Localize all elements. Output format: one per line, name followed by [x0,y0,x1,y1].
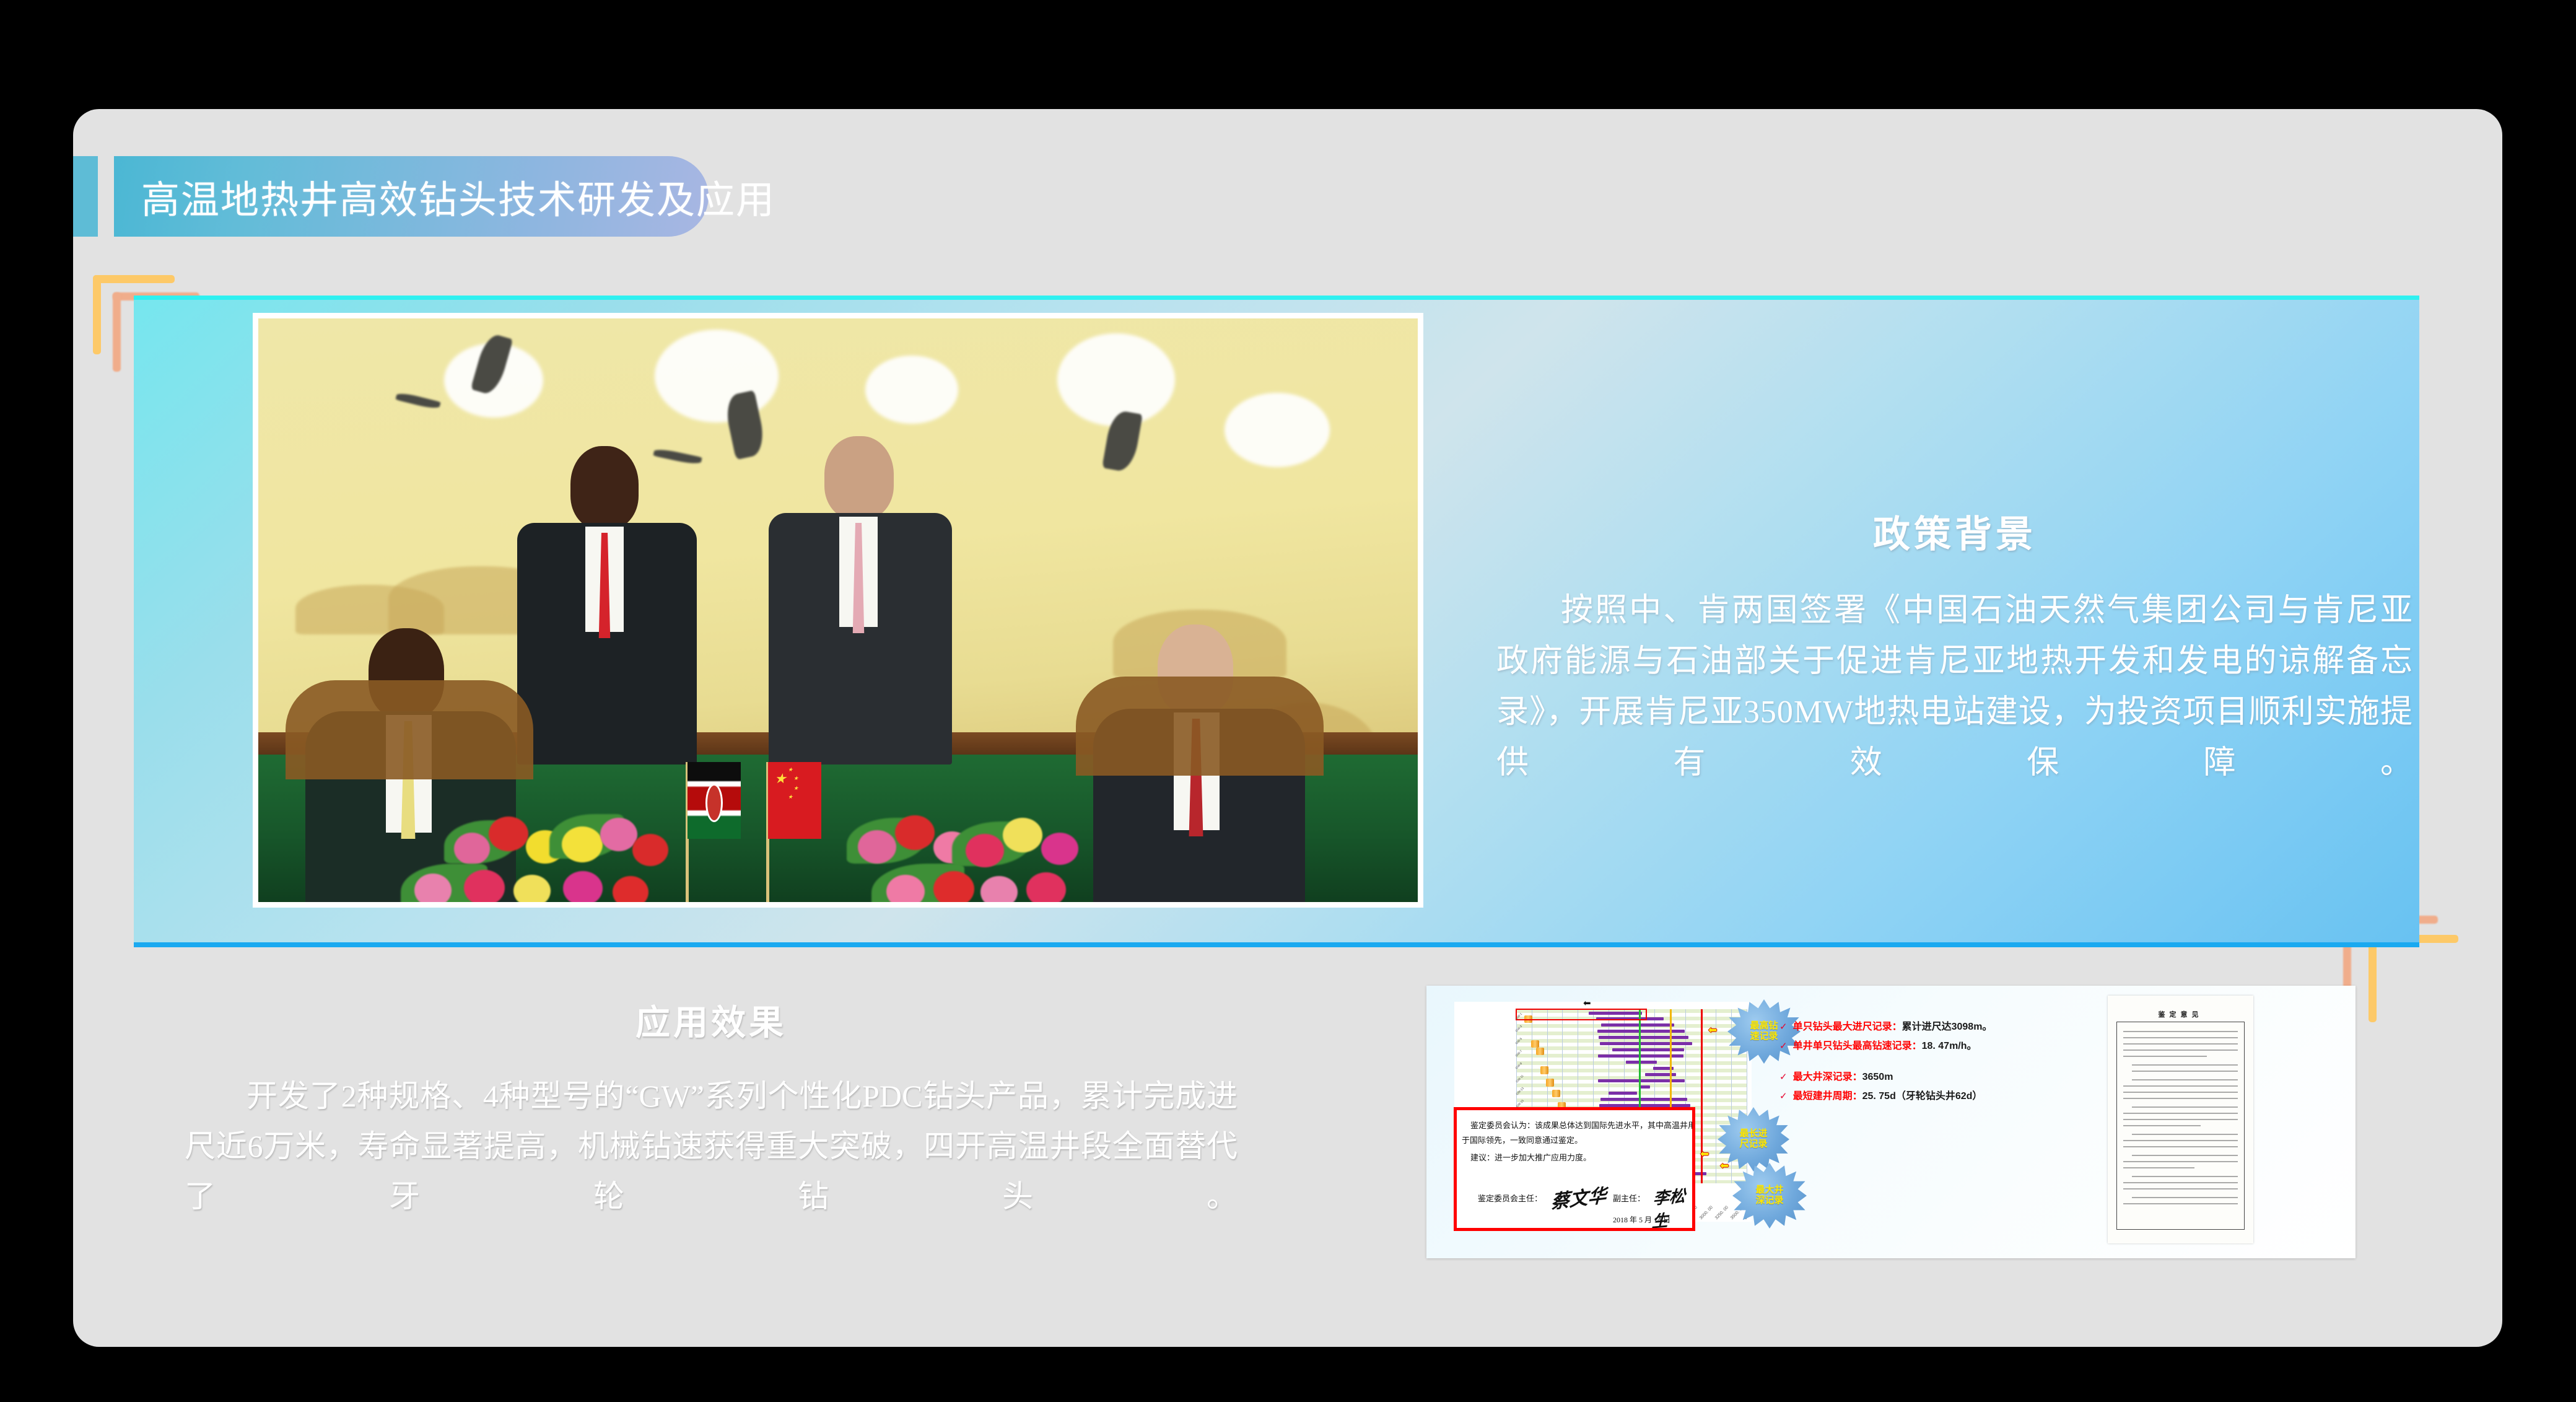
certificate-line-2: 于国际领先，一致同意通过鉴定。 [1462,1134,1583,1146]
record-item: ✓ 单井单只钻头最高钻速记录： 18. 47m/h。 [1779,1037,2114,1052]
china-flag: ★ ★ ★ ★ ★ [768,762,821,839]
title-pill: 高温地热井高效钻头技术研发及应用 [114,156,709,237]
slide-card: 高温地热井高效钻头技术研发及应用 [73,109,2502,1347]
check-icon: ✓ [1779,1090,1788,1102]
certificate-body [2116,1022,2245,1230]
policy-text-block: 政策背景 按照中、肯两国签署《中国石油天然气集团公司与肯尼亚政府能源与石油部关于… [1496,504,2413,789]
record-label: 最大井深记录： [1793,1068,1862,1083]
effect-text-block: 应用效果 开发了2种规格、4种型号的“GW”系列个性化PDC钻头产品，累计完成进… [185,995,1238,1222]
effect-heading: 应用效果 [185,995,1238,1045]
callout-arrow-speed: ⬅ [1708,1025,1717,1035]
record-label: 单井单只钻头最高钻速记录： [1793,1037,1922,1052]
page-title: 高温地热井高效钻头技术研发及应用 [114,169,775,224]
chair-label: 鉴定委员会主任： [1478,1192,1542,1204]
certificate-date: 2018 年 5 月 14 日 [1613,1214,1670,1225]
vice-label: 副主任： [1613,1192,1645,1204]
certificate-title: 鉴定意见 [2108,1009,2253,1019]
title-accent-bar [73,156,98,237]
record-label: 最短建井周期： [1793,1087,1862,1102]
policy-panel: ★ ★ ★ ★ ★ [134,296,2419,947]
callout-arrow-depth: ⬅ [1720,1160,1729,1171]
policy-body: 按照中、肯两国签署《中国石油天然气集团公司与肯尼亚政府能源与石油部关于促进肯尼亚… [1496,585,2413,789]
check-icon: ✓ [1779,1040,1788,1051]
record-item: ✓ 最短建井周期： 25. 75d（牙轮钻头井62d） [1779,1087,2114,1102]
record-list: ✓ 单只钻头最大进尺记录： 累计进尺达3098m。 ✓ 单井单只钻头最高钻速记录… [1779,1018,2114,1106]
certificate-highlight-box: 鉴定委员会认为：该成果总体达到国际先进水平，其中高温井用 PDC 钻头技术处 于… [1454,1107,1695,1231]
signing-ceremony-photo: ★ ★ ★ ★ ★ [253,313,1423,908]
record-item: ✓ 最大井深记录： 3650m [1779,1068,2114,1083]
certificate-line-3: 建议：进一步加大推广应用力度。 [1470,1151,1591,1163]
chart-highlight-box [1516,1009,1647,1020]
kenya-flag [688,762,741,839]
policy-heading: 政策背景 [1496,504,2413,558]
record-value: 18. 47m/h。 [1922,1037,1977,1052]
appraisal-certificate: 鉴定意见 [2108,996,2253,1243]
record-value: 25. 75d（牙轮钻头井62d） [1862,1087,1983,1102]
record-value: 3650m [1862,1072,1893,1083]
check-icon: ✓ [1779,1071,1788,1082]
callout-arrow-top: ⬅ [1583,999,1591,1009]
record-item: ✓ 单只钻头最大进尺记录： 累计进尺达3098m。 [1779,1018,2114,1033]
callout-max-well-depth: 最大井深记录 [1732,1163,1807,1229]
record-value: 累计进尺达3098m。 [1902,1018,1993,1033]
certificate-line-1: 鉴定委员会认为：该成果总体达到国际先进水平，其中高温井用 PDC 钻头技术处 [1470,1119,1695,1131]
check-icon: ✓ [1779,1021,1788,1032]
effect-body: 开发了2种规格、4种型号的“GW”系列个性化PDC钻头产品，累计完成进尺近6万米… [185,1071,1238,1222]
results-image-card: GW-1 GW-3 GW-5 GW-7 GW-9 GW-11 GW-13 GW-… [1426,986,2356,1258]
callout-arrow-footage: ⬅ [1700,1149,1709,1159]
record-label: 单只钻头最大进尺记录： [1793,1018,1902,1033]
chair-signature: 蔡文华 [1551,1180,1607,1214]
